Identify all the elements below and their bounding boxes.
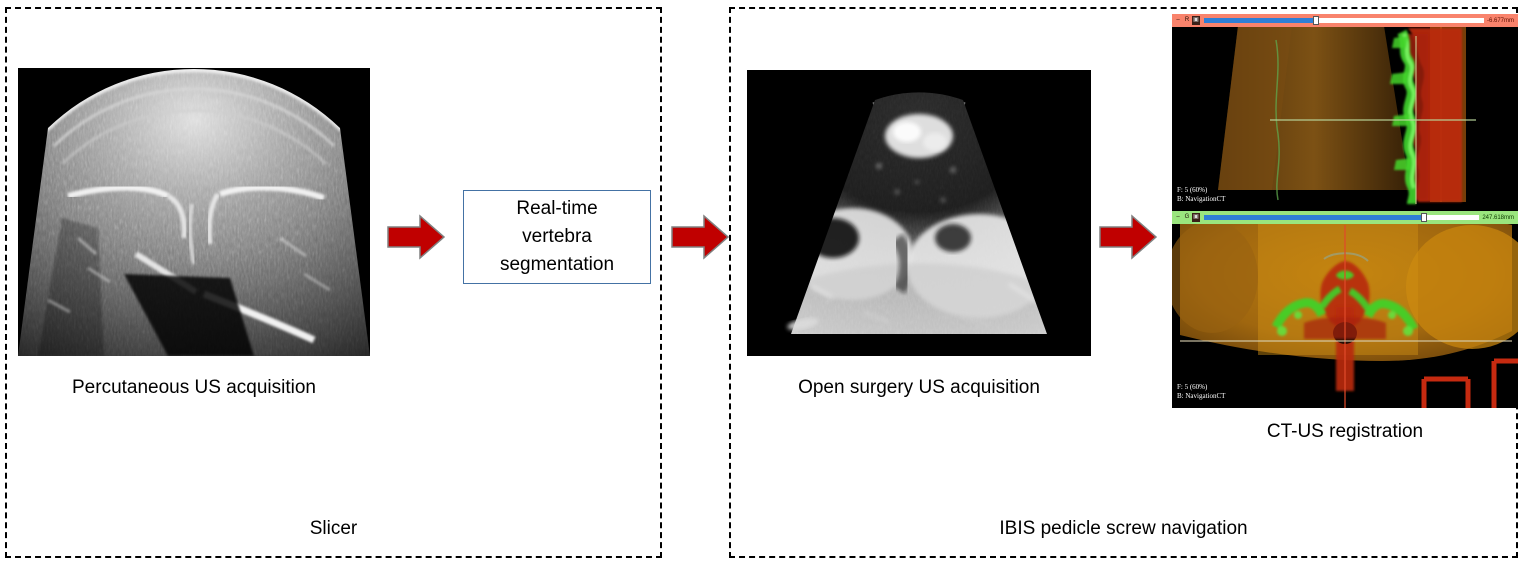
nav-view-axial[interactable]: F: 5 (60%) B: NavigationCT – G ▣ 247.618…	[1172, 211, 1518, 408]
slice-value-axial: 247.618mm	[1482, 215, 1516, 221]
caption-open-surgery: Open surgery US acquisition	[747, 374, 1091, 402]
slice-slider-axial-handle[interactable]	[1421, 213, 1427, 222]
group-caption-slicer: Slicer	[5, 518, 662, 540]
nav-overlay-axial-line1: F: 5 (60%)	[1177, 383, 1225, 392]
caption-open-line1: Open surgery	[798, 377, 913, 398]
slice-slider-sagittal-filled	[1204, 18, 1316, 23]
ibis-navigation-window[interactable]: F: 5 (60%) B: NavigationCT – R ▣ -6.677m…	[1172, 14, 1518, 408]
process-box-line3: segmentation	[500, 251, 614, 279]
slice-slider-axial-remainder	[1424, 215, 1479, 220]
nav-overlay-sagittal: F: 5 (60%) B: NavigationCT	[1177, 186, 1225, 204]
caption-percutaneous-line1: Percutaneous	[72, 377, 189, 398]
slice-slider-sagittal[interactable]	[1204, 17, 1484, 24]
caption-percutaneous-line2: US acquisition	[195, 377, 316, 398]
figure-canvas: Slicer	[0, 0, 1536, 576]
nav-overlay-sagittal-line2: B: NavigationCT	[1177, 195, 1225, 204]
nav-view-sagittal[interactable]: F: 5 (60%) B: NavigationCT – R ▣ -6.677m…	[1172, 14, 1518, 211]
ultrasound-image-open-surgery	[747, 70, 1091, 356]
nav-toolbar-axial[interactable]: – G ▣ 247.618mm	[1172, 211, 1518, 224]
camera-icon-axial[interactable]: ▣	[1192, 213, 1200, 222]
ultrasound-sector-graphic-open-surgery	[747, 70, 1091, 356]
arrow-open-to-registration-icon	[1099, 214, 1157, 260]
nav-overlay-axial-line2: B: NavigationCT	[1177, 392, 1225, 401]
slice-value-sagittal: -6.677mm	[1487, 18, 1516, 24]
ct-us-overlay-sagittal-graphic	[1172, 14, 1518, 211]
ultrasound-sector-graphic-percutaneous	[18, 68, 370, 356]
camera-icon-sagittal[interactable]: ▣	[1192, 16, 1200, 25]
view-letter-icon-sagittal[interactable]: R	[1183, 16, 1191, 25]
minimize-icon-axial[interactable]: –	[1174, 213, 1182, 222]
view-letter-icon-axial[interactable]: G	[1183, 213, 1191, 222]
caption-open-line2: US acquisition	[918, 377, 1039, 398]
ct-us-overlay-axial-graphic	[1172, 211, 1518, 408]
group-caption-ibis: IBIS pedicle screw navigation	[729, 518, 1518, 540]
ultrasound-image-percutaneous	[18, 68, 370, 356]
nav-overlay-axial: F: 5 (60%) B: NavigationCT	[1177, 383, 1225, 401]
slice-slider-axial-filled	[1204, 215, 1424, 220]
process-box-line2: vertebra	[522, 223, 592, 251]
caption-ct-us-registration: CT-US registration	[1172, 418, 1518, 446]
nav-overlay-sagittal-line1: F: 5 (60%)	[1177, 186, 1225, 195]
slice-slider-sagittal-handle[interactable]	[1313, 16, 1319, 25]
caption-percutaneous: Percutaneous US acquisition	[18, 374, 370, 402]
arrow-segmentation-to-open-icon	[671, 214, 729, 260]
minimize-icon-sagittal[interactable]: –	[1174, 16, 1182, 25]
arrow-percutaneous-to-segmentation-icon	[387, 214, 445, 260]
slice-slider-axial[interactable]	[1204, 214, 1479, 221]
process-box-realtime-vertebra-segmentation[interactable]: Real-time vertebra segmentation	[463, 190, 651, 284]
process-box-line1: Real-time	[516, 195, 597, 223]
nav-toolbar-sagittal[interactable]: – R ▣ -6.677mm	[1172, 14, 1518, 27]
slice-slider-sagittal-remainder	[1316, 18, 1484, 23]
